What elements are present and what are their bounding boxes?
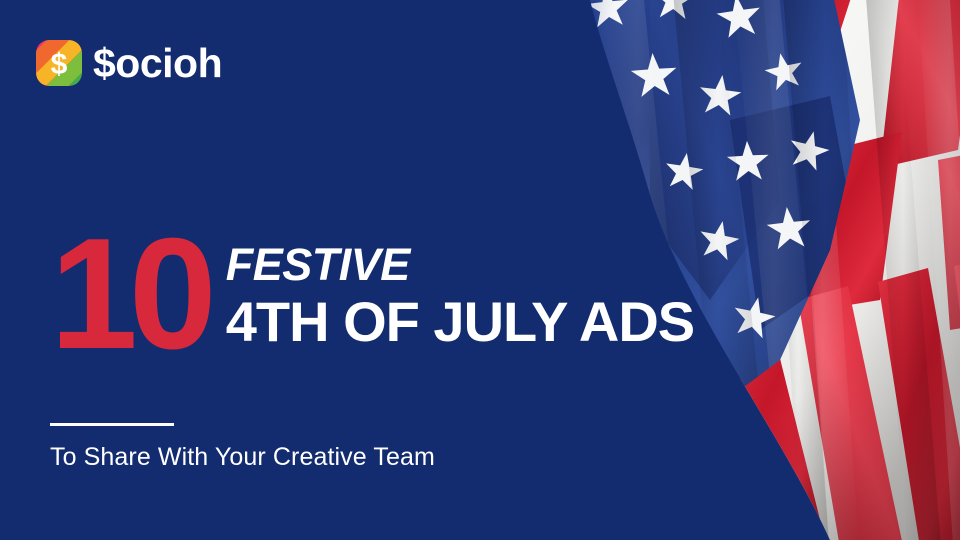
slide-canvas: $ $ocioh 10 FESTIVE 4TH OF JULY ADS To S… (0, 0, 960, 540)
svg-text:$: $ (51, 48, 68, 81)
sociolh-dollar-square-icon: $ (36, 40, 82, 86)
headline-number: 10 (50, 234, 208, 354)
brand-logo[interactable]: $ $ocioh (36, 40, 222, 86)
title-divider (50, 423, 174, 426)
page-title: 4TH OF JULY ADS (226, 293, 694, 351)
headline-block: 10 FESTIVE 4TH OF JULY ADS (50, 238, 750, 354)
brand-wordmark: $ocioh (93, 43, 222, 84)
subtitle-text: To Share With Your Creative Team (50, 442, 435, 472)
headline-kicker: FESTIVE (226, 239, 410, 290)
